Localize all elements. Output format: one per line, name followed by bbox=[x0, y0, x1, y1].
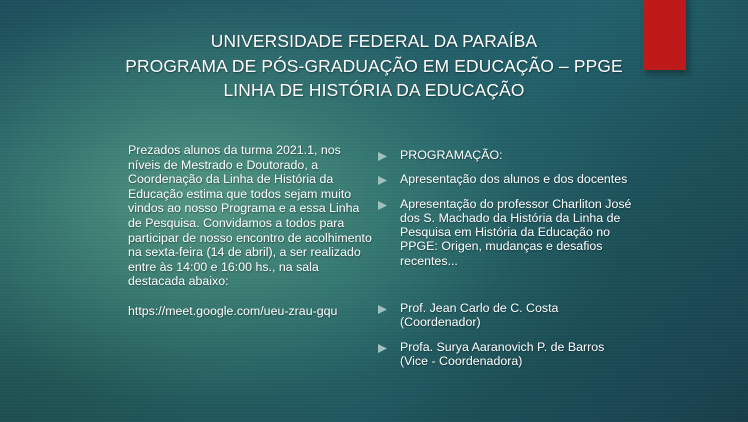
list-item: PROGRAMAÇÃO: bbox=[378, 148, 634, 162]
left-text-column: Prezados alunos da turma 2021.1, nos nív… bbox=[128, 143, 372, 319]
triangle-bullet-icon bbox=[378, 152, 387, 161]
list-item-label: PROGRAMAÇÃO: bbox=[400, 148, 634, 162]
list-item-label: Apresentação do professor Charliton José… bbox=[400, 197, 634, 268]
list-item-spacer bbox=[378, 278, 634, 291]
list-item-label: Prof. Jean Carlo de C. Costa (Coordenado… bbox=[400, 301, 634, 330]
triangle-bullet-icon bbox=[378, 201, 387, 210]
triangle-bullet-icon bbox=[378, 282, 387, 291]
list-item: Apresentação do professor Charliton José… bbox=[378, 197, 634, 268]
triangle-bullet-icon bbox=[378, 305, 387, 314]
list-item: Apresentação dos alunos e dos docentes bbox=[378, 172, 634, 186]
list-item: Prof. Jean Carlo de C. Costa (Coordenado… bbox=[378, 301, 634, 330]
right-bullet-column: PROGRAMAÇÃO: Apresentação dos alunos e d… bbox=[378, 148, 634, 378]
invitation-paragraph: Prezados alunos da turma 2021.1, nos nív… bbox=[128, 143, 372, 289]
list-item-label bbox=[400, 278, 634, 291]
list-item-label: Profa. Surya Aaranovich P. de Barros (Vi… bbox=[400, 340, 634, 369]
title-line-3: LINHA DE HISTÓRIA DA EDUCAÇÃO bbox=[0, 78, 748, 103]
list-item-label: Apresentação dos alunos e dos docentes bbox=[400, 172, 634, 186]
title-line-1: UNIVERSIDADE FEDERAL DA PARAÍBA bbox=[0, 29, 748, 54]
title-line-2: PROGRAMA DE PÓS-GRADUAÇÃO EM EDUCAÇÃO – … bbox=[0, 54, 748, 79]
list-item: Profa. Surya Aaranovich P. de Barros (Vi… bbox=[378, 340, 634, 369]
google-meet-link[interactable]: https://meet.google.com/ueu-zrau-gqu bbox=[128, 289, 372, 319]
triangle-bullet-icon bbox=[378, 344, 387, 353]
presentation-slide: UNIVERSIDADE FEDERAL DA PARAÍBA PROGRAMA… bbox=[0, 0, 748, 422]
triangle-bullet-icon bbox=[378, 176, 387, 185]
slide-title: UNIVERSIDADE FEDERAL DA PARAÍBA PROGRAMA… bbox=[0, 29, 748, 103]
